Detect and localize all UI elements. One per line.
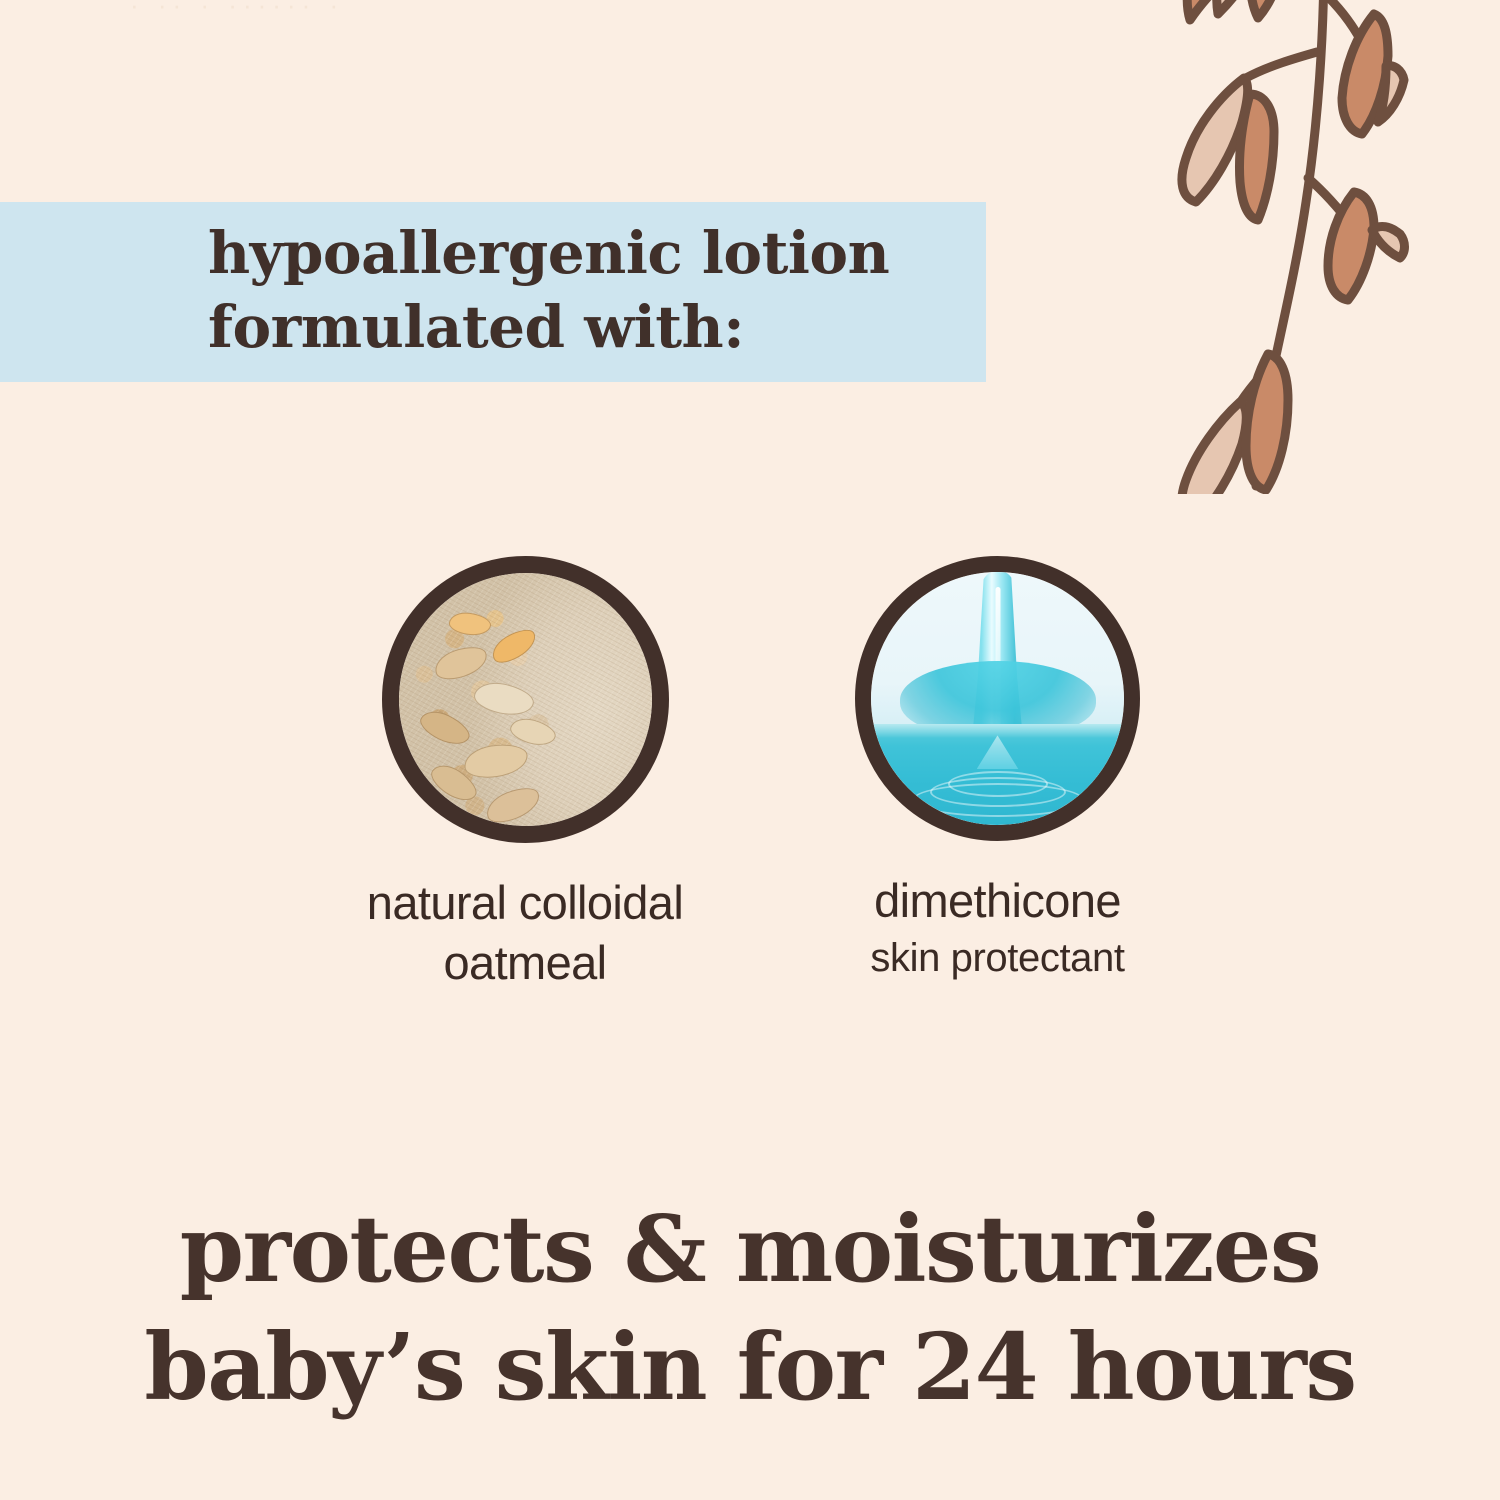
- header-banner: hypoallergenic lotion formulated with:: [0, 202, 986, 382]
- dimethicone-caption: dimethicone skin protectant: [790, 871, 1205, 985]
- dimethicone-label-line2: skin protectant: [790, 931, 1205, 985]
- oatmeal-circle-frame: [382, 556, 669, 843]
- colloidal-oatmeal-photo: [399, 573, 652, 826]
- product-infographic: · ·· · ······ ·: [0, 0, 1500, 1500]
- oat-sprig-icon: [1128, 0, 1500, 494]
- top-watermark-sliver: · ·· · ······ ·: [0, 0, 1500, 10]
- dimethicone-circle-frame: [855, 556, 1140, 841]
- dimethicone-label-line1: dimethicone: [790, 871, 1205, 931]
- oatmeal-label-line2: oatmeal: [300, 933, 750, 993]
- ingredient-oatmeal: natural colloidal oatmeal: [300, 556, 750, 993]
- oatmeal-caption: natural colloidal oatmeal: [300, 873, 750, 993]
- ripple-ring: [912, 783, 1084, 817]
- banner-headline: hypoallergenic lotion formulated with:: [208, 216, 968, 364]
- ingredient-list: natural colloidal oatmeal: [0, 556, 1500, 1016]
- oatmeal-label-line1: natural colloidal: [300, 873, 750, 933]
- bottom-headline: protects & moisturizes baby’s skin for 2…: [0, 1190, 1500, 1426]
- ingredient-dimethicone: dimethicone skin protectant: [790, 556, 1205, 985]
- dimethicone-liquid-photo: [871, 572, 1124, 825]
